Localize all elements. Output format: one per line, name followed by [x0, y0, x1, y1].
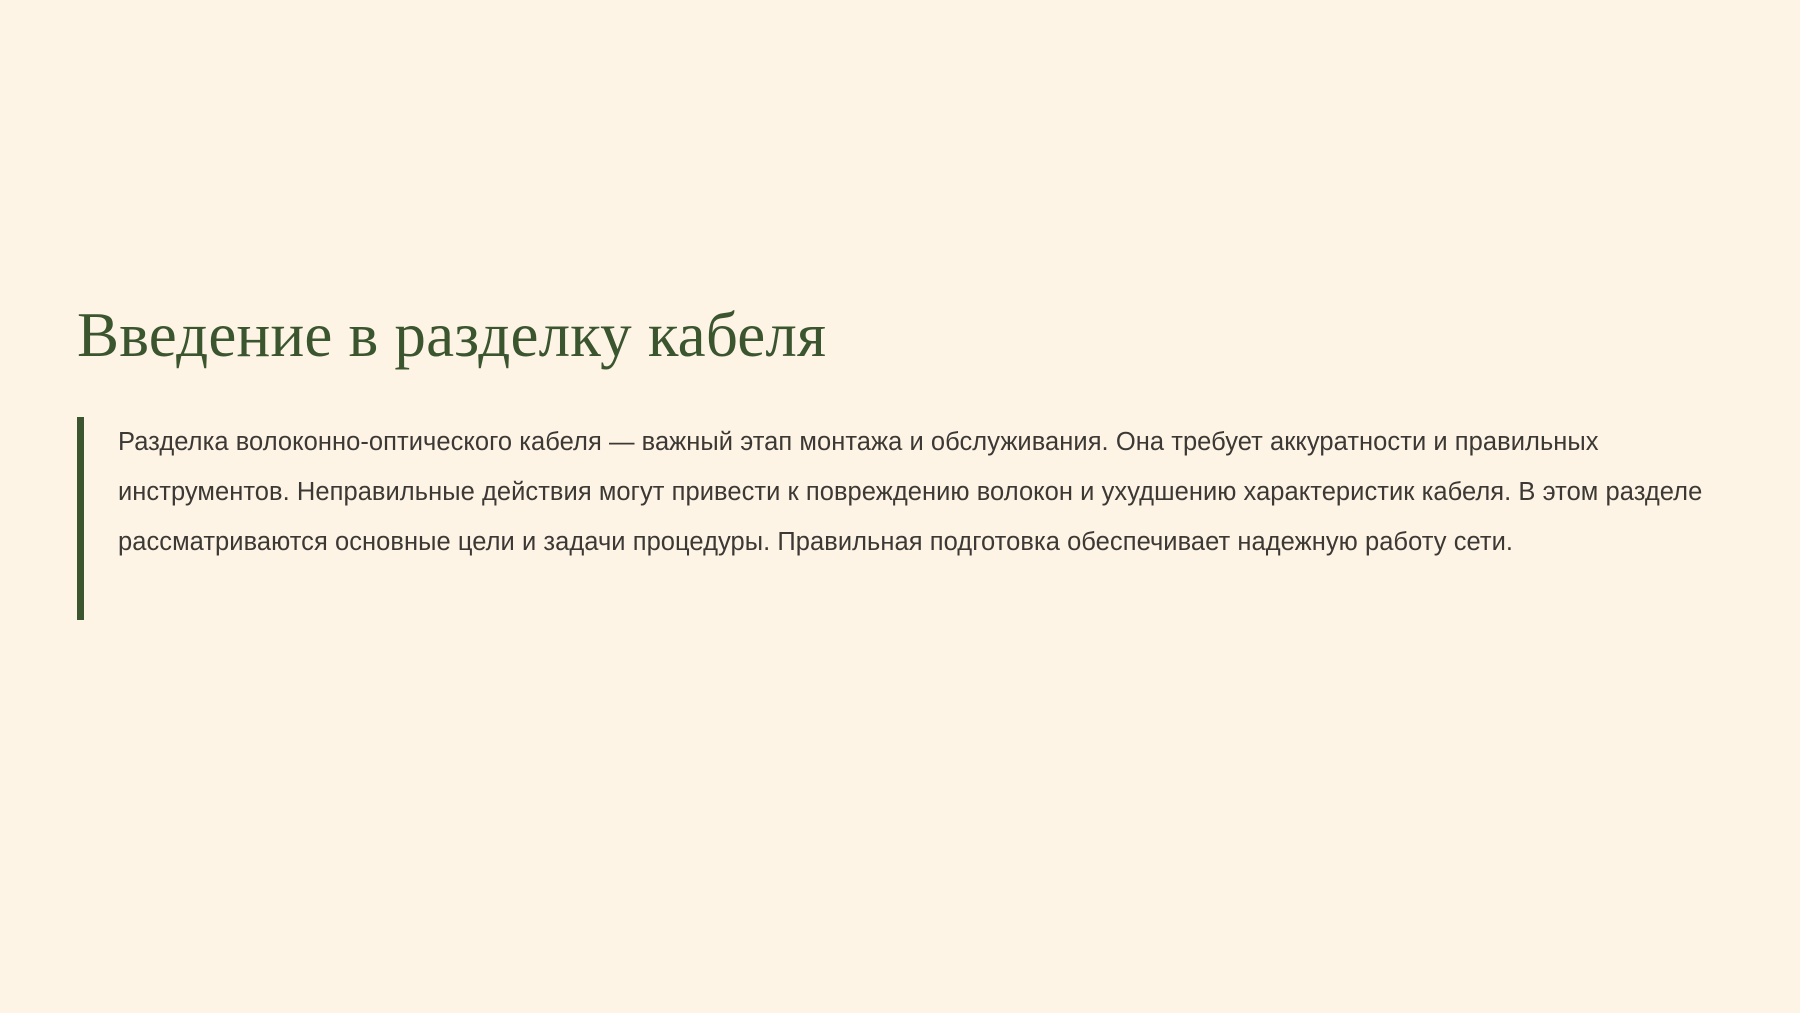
accent-bar	[77, 417, 84, 620]
body-paragraph: Разделка волоконно-оптического кабеля — …	[118, 417, 1738, 567]
body-block: Разделка волоконно-оптического кабеля — …	[77, 417, 1737, 567]
slide-canvas: Введение в разделку кабеля Разделка воло…	[0, 0, 1800, 1013]
slide-content: Введение в разделку кабеля Разделка воло…	[77, 300, 1737, 567]
page-title: Введение в разделку кабеля	[77, 300, 1737, 371]
